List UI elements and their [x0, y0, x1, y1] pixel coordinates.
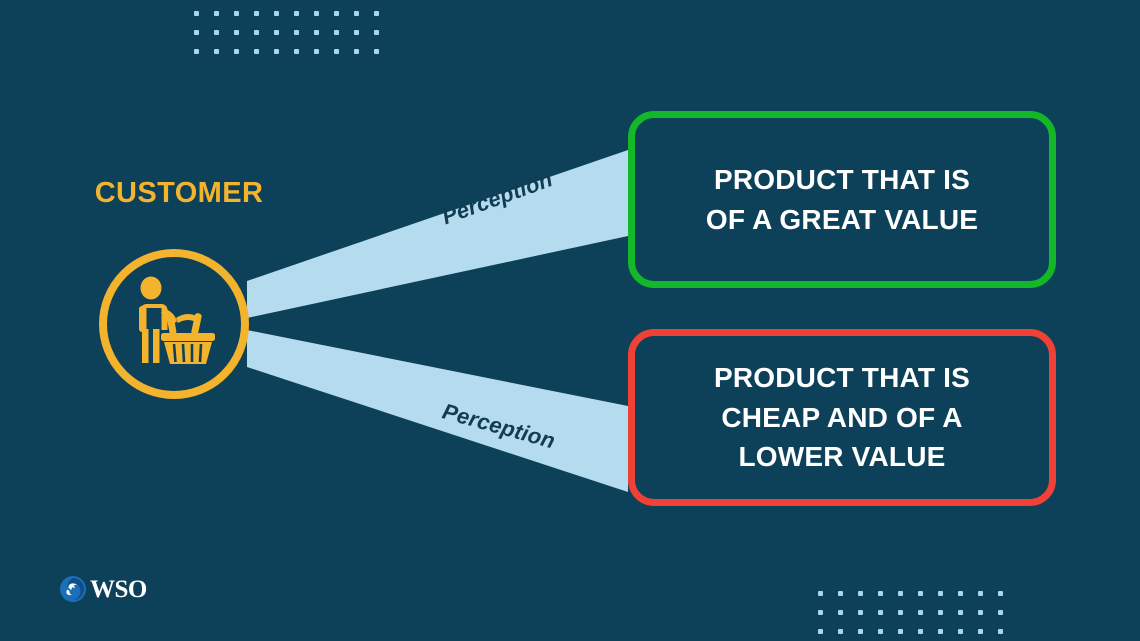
decorative-dot — [998, 591, 1003, 596]
decorative-dot — [978, 629, 983, 634]
decorative-dot — [898, 629, 903, 634]
decorative-dot — [818, 591, 823, 596]
outcome-line: PRODUCT THAT IS — [714, 358, 970, 398]
decorative-dot — [898, 610, 903, 615]
decorative-dot — [838, 591, 843, 596]
decorative-dot — [878, 591, 883, 596]
decorative-dot — [938, 629, 943, 634]
connector-wedge-top — [247, 150, 628, 318]
decorative-dot — [918, 610, 923, 615]
customer-shopping-basket-icon — [123, 273, 225, 375]
decorative-dot-grid-bottom — [818, 591, 1003, 634]
decorative-dot — [958, 610, 963, 615]
decorative-dot — [958, 591, 963, 596]
customer-label: CUSTOMER — [94, 177, 264, 210]
decorative-dot — [858, 591, 863, 596]
diagram-canvas: Perception Perception — [0, 0, 1140, 641]
decorative-dot — [998, 629, 1003, 634]
decorative-dot — [818, 629, 823, 634]
decorative-dot — [818, 610, 823, 615]
outcome-box-great-value-text: PRODUCT THAT IS OF A GREAT VALUE — [682, 160, 1002, 240]
outcome-line: OF A GREAT VALUE — [706, 200, 978, 240]
decorative-dot — [838, 610, 843, 615]
decorative-dot — [898, 591, 903, 596]
outcome-box-lower-value[interactable]: PRODUCT THAT IS CHEAP AND OF A LOWER VAL… — [628, 329, 1056, 506]
customer-node[interactable] — [99, 249, 249, 399]
outcome-line: PRODUCT THAT IS — [706, 160, 978, 200]
outcome-line: CHEAP AND OF A — [714, 398, 970, 438]
decorative-dot — [918, 591, 923, 596]
decorative-dot — [978, 610, 983, 615]
decorative-dot — [858, 610, 863, 615]
outcome-box-lower-value-text: PRODUCT THAT IS CHEAP AND OF A LOWER VAL… — [690, 358, 994, 477]
outcome-box-great-value[interactable]: PRODUCT THAT IS OF A GREAT VALUE — [628, 111, 1056, 288]
wso-logo[interactable]: WSO — [60, 576, 147, 602]
decorative-dot — [998, 610, 1003, 615]
outcome-line: LOWER VALUE — [714, 437, 970, 477]
decorative-dot — [918, 629, 923, 634]
decorative-dot — [958, 629, 963, 634]
connector-wedge-bottom — [247, 330, 628, 492]
wso-globe-icon — [60, 576, 86, 602]
decorative-dot — [838, 629, 843, 634]
decorative-dot — [878, 610, 883, 615]
wso-logo-text: WSO — [90, 577, 147, 602]
decorative-dot — [938, 591, 943, 596]
decorative-dot — [858, 629, 863, 634]
decorative-dot — [978, 591, 983, 596]
decorative-dot — [938, 610, 943, 615]
decorative-dot — [878, 629, 883, 634]
